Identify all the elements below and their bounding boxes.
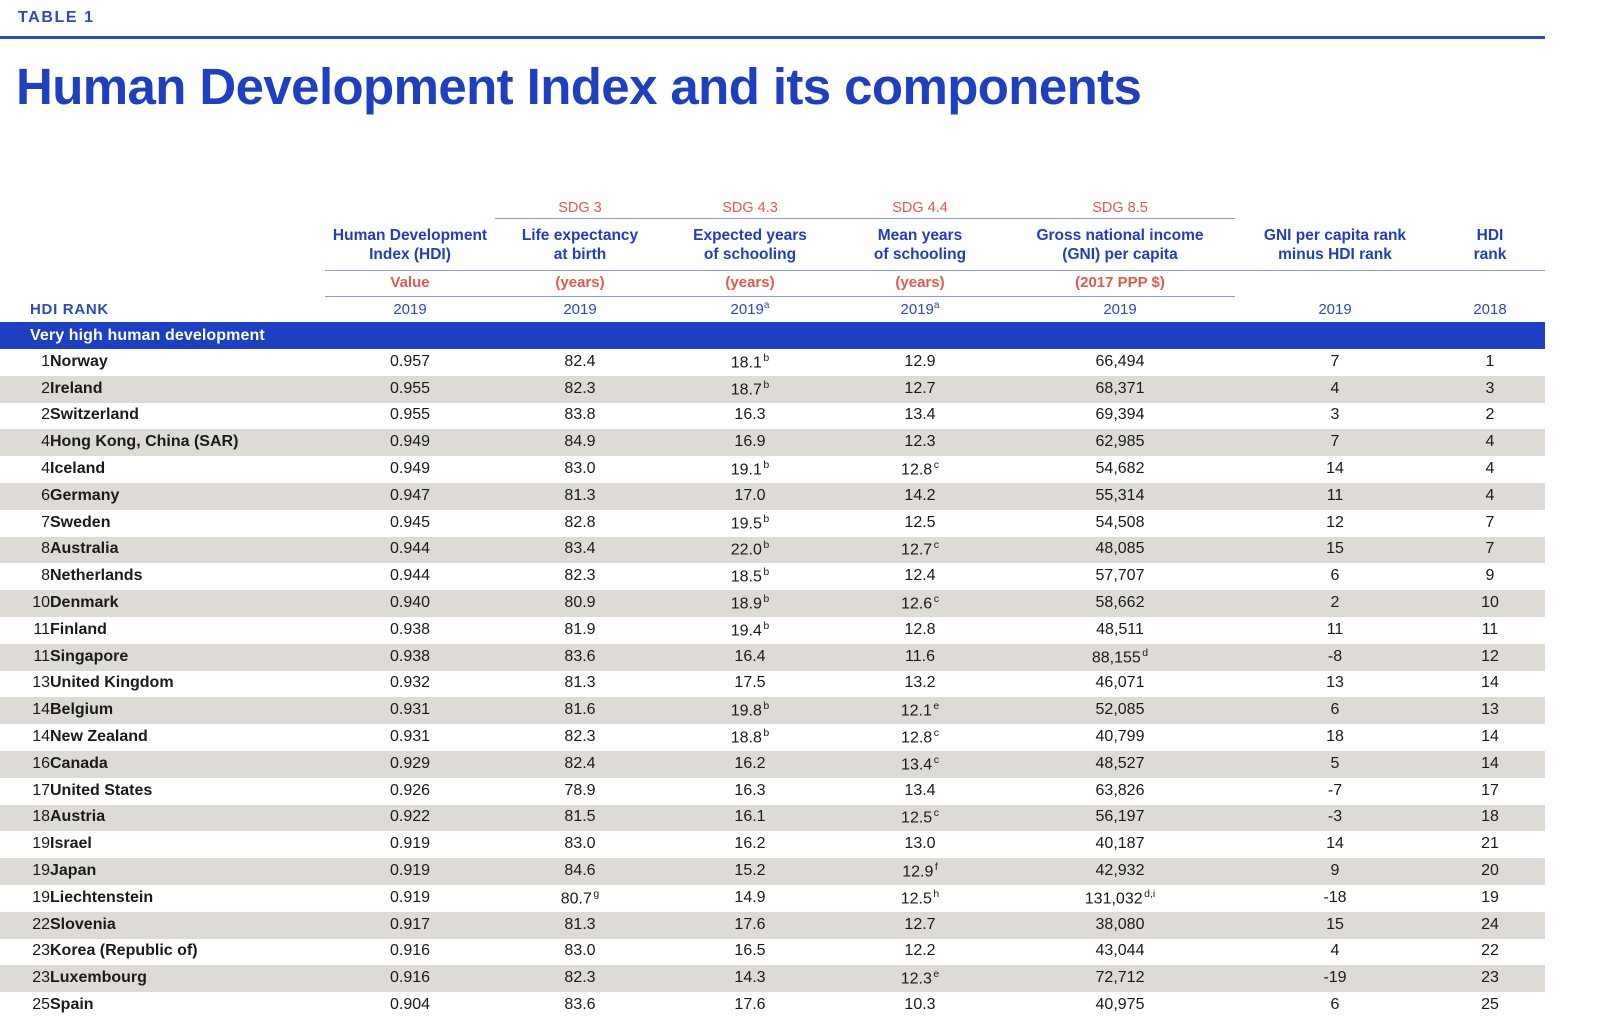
cell-country-name: Norway (50, 349, 325, 376)
cell-mys: 12.2 (835, 939, 1005, 966)
cell-country-name: Singapore (50, 644, 325, 671)
cell-hdirank-value: 4 (1486, 460, 1495, 477)
cell-hdi: 0.938 (325, 644, 495, 671)
cell-hdi-value: 0.931 (390, 728, 430, 745)
table-row: 2Ireland0.95582.318.7b12.768,37143 (0, 376, 1545, 403)
header-row-units: Value (years) (years) (years) (2017 PPP … (0, 270, 1545, 296)
header-rule (0, 36, 1545, 39)
cell-gni: 72,712 (1005, 965, 1235, 992)
cell-hdirank: 19 (1435, 885, 1545, 912)
header-gni-line2: (GNI) per capita (1062, 246, 1177, 263)
cell-gni: 58,662 (1005, 590, 1235, 617)
cell-hdirank-value: 7 (1486, 514, 1495, 531)
cell-hdirank: 4 (1435, 483, 1545, 510)
cell-hdirank: 10 (1435, 590, 1545, 617)
cell-eys-value: 16.2 (734, 755, 765, 772)
cell-hdi-value: 0.944 (390, 567, 430, 584)
cell-mys-note: c (932, 727, 939, 739)
cell-gni: 48,085 (1005, 537, 1235, 564)
cell-mys-note: e (932, 700, 939, 712)
cell-eys-value: 16.4 (734, 648, 765, 665)
cell-gni-note: d (1141, 647, 1148, 659)
cell-hdi: 0.917 (325, 912, 495, 939)
cell-life: 81.9 (495, 617, 665, 644)
cell-eys: 16.9 (665, 429, 835, 456)
cell-mys-value: 12.5 (901, 890, 932, 907)
cell-hdi: 0.938 (325, 617, 495, 644)
cell-eys-value: 16.3 (734, 406, 765, 423)
cell-hdirank-value: 7 (1486, 540, 1495, 557)
cell-rank: 6 (0, 483, 50, 510)
cell-mys-note: c (932, 593, 939, 605)
cell-gni-value: 54,682 (1096, 460, 1145, 477)
cell-mys: 12.8 (835, 617, 1005, 644)
cell-rank: 23 (0, 965, 50, 992)
cell-mys: 12.3e (835, 965, 1005, 992)
cell-gni: 66,494 (1005, 349, 1235, 376)
cell-hdi: 0.949 (325, 456, 495, 483)
cell-hdi: 0.949 (325, 429, 495, 456)
cell-gnirank: -18 (1235, 885, 1435, 912)
cell-mys-value: 12.3 (901, 970, 932, 987)
cell-life: 83.0 (495, 939, 665, 966)
cell-hdi-value: 0.929 (390, 755, 430, 772)
cell-eys: 19.4b (665, 617, 835, 644)
cell-hdi-value: 0.919 (390, 889, 430, 906)
cell-gnirank-value: 13 (1326, 674, 1344, 691)
cell-country-name: Switzerland (50, 403, 325, 430)
cell-gni-value: 54,508 (1096, 514, 1145, 531)
cell-hdi: 0.945 (325, 510, 495, 537)
cell-country-name: New Zealand (50, 724, 325, 751)
cell-rank: 18 (0, 805, 50, 832)
cell-hdirank: 14 (1435, 724, 1545, 751)
header-gni-line1: Gross national income (1036, 227, 1203, 244)
cell-gni: 68,371 (1005, 376, 1235, 403)
cell-hdi: 0.944 (325, 537, 495, 564)
cell-hdi-value: 0.931 (390, 701, 430, 718)
year-mys-sup: a (934, 300, 940, 311)
cell-country-name: Australia (50, 537, 325, 564)
year-hdi: 2019 (325, 296, 495, 322)
cell-eys-value: 22.0 (731, 542, 762, 559)
cell-rank: 1 (0, 349, 50, 376)
cell-gnirank: -19 (1235, 965, 1435, 992)
cell-eys: 16.4 (665, 644, 835, 671)
cell-gni: 40,799 (1005, 724, 1235, 751)
cell-eys-note: b (762, 513, 769, 525)
cell-gni: 69,394 (1005, 403, 1235, 430)
cell-gnirank-value: 6 (1331, 701, 1340, 718)
cell-hdirank-value: 1 (1486, 353, 1495, 370)
sdg-spacer-rank (0, 196, 50, 218)
year-gni-value: 2019 (1103, 301, 1136, 318)
cell-country-name: Netherlands (50, 563, 325, 590)
cell-rank: 4 (0, 429, 50, 456)
cell-life-value: 82.3 (564, 728, 595, 745)
cell-hdirank-value: 17 (1481, 782, 1499, 799)
cell-country-name: Hong Kong, China (SAR) (50, 429, 325, 456)
cell-mys: 12.9 (835, 349, 1005, 376)
cell-eys: 17.6 (665, 992, 835, 1019)
cell-mys-value: 13.4 (904, 406, 935, 423)
cell-mys: 13.4 (835, 403, 1005, 430)
cell-life-value: 83.0 (564, 835, 595, 852)
sdg-eys: SDG 4.3 (665, 196, 835, 218)
header-row-titles: Human Development Index (HDI) Life expec… (0, 218, 1545, 270)
cell-eys-value: 14.9 (734, 889, 765, 906)
cell-hdirank-value: 3 (1486, 380, 1495, 397)
cell-hdi-value: 0.917 (390, 916, 430, 933)
header-hdi-line2: Index (HDI) (369, 246, 451, 263)
cell-hdirank: 2 (1435, 403, 1545, 430)
cell-life-value: 82.4 (564, 755, 595, 772)
cell-life-value: 82.8 (564, 514, 595, 531)
cell-mys: 13.4c (835, 751, 1005, 778)
cell-hdirank: 3 (1435, 376, 1545, 403)
page-title: Human Development Index and its componen… (16, 57, 1141, 116)
table-row: 23Korea (Republic of)0.91683.016.512.243… (0, 939, 1545, 966)
cell-gnirank: 6 (1235, 563, 1435, 590)
cell-eys: 14.3 (665, 965, 835, 992)
cell-hdi: 0.940 (325, 590, 495, 617)
header-life-line1: Life expectancy (522, 227, 638, 244)
cell-hdi-value: 0.955 (390, 380, 430, 397)
cell-hdirank-value: 21 (1481, 835, 1499, 852)
cell-hdirank-value: 20 (1481, 862, 1499, 879)
header-hdi-rank-line1: HDI (1477, 227, 1504, 244)
cell-life-value: 80.7 (561, 890, 592, 907)
cell-gnirank: 14 (1235, 456, 1435, 483)
cell-country-name: Japan (50, 858, 325, 885)
unit-hdi: Value (325, 270, 495, 296)
header-gni-rank: GNI per capita rank minus HDI rank (1235, 218, 1435, 270)
cell-life-value: 80.9 (564, 594, 595, 611)
cell-eys-note: b (762, 566, 769, 578)
table-row: 18Austria0.92281.516.112.5c56,197-318 (0, 805, 1545, 832)
header-hdi-rank: HDI rank (1435, 218, 1545, 270)
group-row-label: Very high human development (0, 322, 1545, 349)
cell-gnirank-value: 3 (1331, 406, 1340, 423)
cell-hdi: 0.919 (325, 831, 495, 858)
cell-eys-note: b (762, 700, 769, 712)
cell-mys-value: 13.0 (904, 835, 935, 852)
cell-life-value: 78.9 (564, 782, 595, 799)
cell-hdirank: 20 (1435, 858, 1545, 885)
cell-mys-value: 12.7 (904, 916, 935, 933)
cell-gnirank-value: 6 (1331, 567, 1340, 584)
cell-gni: 131,032d,i (1005, 885, 1235, 912)
table-row: 7Sweden0.94582.819.5b12.554,508127 (0, 510, 1545, 537)
cell-mys-value: 12.6 (901, 595, 932, 612)
cell-gnirank-value: 15 (1326, 916, 1344, 933)
cell-eys: 16.2 (665, 831, 835, 858)
cell-hdirank: 14 (1435, 751, 1545, 778)
cell-life: 83.6 (495, 992, 665, 1019)
cell-hdirank-value: 11 (1482, 621, 1499, 638)
cell-life: 82.3 (495, 965, 665, 992)
cell-eys-value: 14.3 (734, 969, 765, 986)
cell-life-value: 83.8 (564, 406, 595, 423)
cell-eys: 16.2 (665, 751, 835, 778)
cell-hdirank: 9 (1435, 563, 1545, 590)
cell-country-name: United States (50, 778, 325, 805)
cell-gni: 46,071 (1005, 671, 1235, 698)
cell-hdirank-value: 12 (1481, 648, 1499, 665)
cell-rank: 11 (0, 644, 50, 671)
cell-hdi-value: 0.944 (390, 540, 430, 557)
cell-gni-value: 48,511 (1096, 621, 1144, 638)
cell-eys-value: 17.6 (734, 996, 765, 1013)
unit-life: (years) (495, 270, 665, 296)
cell-rank: 7 (0, 510, 50, 537)
header-gni-rank-line2: minus HDI rank (1278, 246, 1392, 263)
table-row: 19Japan0.91984.615.212.9f42,932920 (0, 858, 1545, 885)
cell-gnirank: 6 (1235, 992, 1435, 1019)
header-hdi-rank-label: HDI RANK (0, 296, 325, 322)
cell-hdi-value: 0.938 (390, 648, 430, 665)
header-hdi: Human Development Index (HDI) (325, 218, 495, 270)
unit-spacer-rank (0, 270, 50, 296)
cell-gni-value: 38,080 (1096, 916, 1145, 933)
cell-eys: 18.9b (665, 590, 835, 617)
cell-eys-note: b (762, 539, 769, 551)
cell-mys-note: c (932, 807, 939, 819)
cell-life: 81.3 (495, 671, 665, 698)
cell-gni: 40,975 (1005, 992, 1235, 1019)
cell-rank: 2 (0, 403, 50, 430)
cell-eys-value: 15.2 (734, 862, 765, 879)
cell-eys: 16.1 (665, 805, 835, 832)
cell-hdirank: 22 (1435, 939, 1545, 966)
cell-country-name: Slovenia (50, 912, 325, 939)
cell-gni: 54,508 (1005, 510, 1235, 537)
table-row: 14Belgium0.93181.619.8b12.1e52,085613 (0, 697, 1545, 724)
cell-life: 81.3 (495, 483, 665, 510)
cell-life: 78.9 (495, 778, 665, 805)
cell-gnirank: -3 (1235, 805, 1435, 832)
cell-life-value: 81.3 (564, 916, 595, 933)
cell-life-value: 81.9 (564, 621, 595, 638)
cell-mys: 12.7 (835, 912, 1005, 939)
cell-gni-value: 42,932 (1096, 862, 1145, 879)
header-hdi-rank-line2: rank (1474, 246, 1507, 263)
cell-life: 83.6 (495, 644, 665, 671)
header-eys-line1: Expected years (693, 227, 807, 244)
cell-hdirank: 7 (1435, 510, 1545, 537)
cell-rank: 14 (0, 724, 50, 751)
header-eys: Expected years of schooling (665, 218, 835, 270)
cell-gni-value: 62,985 (1096, 433, 1145, 450)
cell-hdirank: 17 (1435, 778, 1545, 805)
cell-gnirank: 14 (1235, 831, 1435, 858)
cell-gnirank: 5 (1235, 751, 1435, 778)
cell-mys-value: 14.2 (904, 487, 935, 504)
cell-gnirank-value: 14 (1326, 460, 1344, 477)
year-eys-sup: a (764, 300, 770, 311)
cell-life-value: 81.3 (564, 674, 595, 691)
cell-hdirank-value: 18 (1481, 808, 1499, 825)
cell-life-value: 83.6 (564, 996, 595, 1013)
cell-eys-value: 16.5 (734, 942, 765, 959)
cell-hdi-value: 0.919 (390, 835, 430, 852)
cell-hdirank: 12 (1435, 644, 1545, 671)
cell-life: 82.4 (495, 349, 665, 376)
cell-eys-value: 19.5 (731, 515, 762, 532)
cell-gnirank-value: 4 (1331, 942, 1340, 959)
header-row-years: HDI RANK 2019 2019 2019a 2019a 2019 2019 (0, 296, 1545, 322)
cell-gni: 48,527 (1005, 751, 1235, 778)
cell-mys: 12.7 (835, 376, 1005, 403)
cell-hdirank: 7 (1435, 537, 1545, 564)
cell-hdi: 0.919 (325, 858, 495, 885)
sdg-gni: SDG 8.5 (1005, 196, 1235, 218)
cell-life-value: 81.3 (564, 487, 595, 504)
cell-eys: 17.0 (665, 483, 835, 510)
cell-mys: 10.3 (835, 992, 1005, 1019)
cell-gnirank-value: -7 (1328, 782, 1342, 799)
unit-gni: (2017 PPP $) (1005, 270, 1235, 296)
header-hdi-line1: Human Development (333, 227, 487, 244)
year-gni-rank: 2019 (1235, 296, 1435, 322)
cell-mys-note: f (933, 861, 937, 873)
cell-gnirank: 11 (1235, 483, 1435, 510)
cell-gnirank: 9 (1235, 858, 1435, 885)
cell-mys-value: 12.8 (901, 729, 932, 746)
cell-mys: 12.4 (835, 563, 1005, 590)
cell-hdi-value: 0.916 (390, 969, 430, 986)
cell-hdirank-value: 13 (1481, 701, 1499, 718)
cell-hdirank-value: 14 (1481, 674, 1499, 691)
cell-mys-value: 13.4 (904, 782, 935, 799)
sdg-spacer-name (50, 196, 325, 218)
cell-gni-value: 72,712 (1096, 969, 1145, 986)
sdg-hdi (325, 196, 495, 218)
cell-gnirank-value: 12 (1326, 514, 1344, 531)
cell-life: 81.3 (495, 912, 665, 939)
cell-life-value: 84.9 (564, 433, 595, 450)
cell-rank: 19 (0, 858, 50, 885)
cell-hdirank-value: 22 (1481, 942, 1499, 959)
table-row: 23Luxembourg0.91682.314.312.3e72,712-192… (0, 965, 1545, 992)
cell-gnirank: -8 (1235, 644, 1435, 671)
cell-country-name: Finland (50, 617, 325, 644)
header-life: Life expectancy at birth (495, 218, 665, 270)
cell-gnirank-value: -18 (1323, 889, 1346, 906)
cell-eys: 15.2 (665, 858, 835, 885)
cell-mys-value: 12.3 (904, 433, 935, 450)
table-row: 22Slovenia0.91781.317.612.738,0801524 (0, 912, 1545, 939)
header-eys-line2: of schooling (704, 246, 796, 263)
cell-mys: 13.4 (835, 778, 1005, 805)
year-mys-value: 2019 (901, 301, 934, 318)
cell-hdi: 0.916 (325, 965, 495, 992)
cell-gni: 63,826 (1005, 778, 1235, 805)
cell-gni-value: 58,662 (1096, 594, 1145, 611)
group-row-very-high: Very high human development (0, 322, 1545, 349)
cell-hdirank: 14 (1435, 671, 1545, 698)
cell-eys: 17.6 (665, 912, 835, 939)
table-row: 8Australia0.94483.422.0b12.7c48,085157 (0, 537, 1545, 564)
cell-eys: 18.1b (665, 349, 835, 376)
cell-hdi: 0.932 (325, 671, 495, 698)
cell-gni: 62,985 (1005, 429, 1235, 456)
cell-gni-value: 40,187 (1096, 835, 1145, 852)
cell-hdi-value: 0.926 (390, 782, 430, 799)
cell-hdi-value: 0.938 (390, 621, 430, 638)
unit-mys: (years) (835, 270, 1005, 296)
cell-gnirank-value: 4 (1331, 380, 1340, 397)
cell-rank: 22 (0, 912, 50, 939)
cell-mys-value: 12.8 (901, 461, 932, 478)
header-row-sdg: SDG 3 SDG 4.3 SDG 4.4 SDG 8.5 (0, 196, 1545, 218)
table-row: 10Denmark0.94080.918.9b12.6c58,662210 (0, 590, 1545, 617)
table-row: 16Canada0.92982.416.213.4c48,527514 (0, 751, 1545, 778)
cell-hdirank-value: 2 (1486, 406, 1495, 423)
cell-life-value: 83.0 (564, 460, 595, 477)
cell-life-value: 81.5 (564, 808, 595, 825)
cell-country-name: Liechtenstein (50, 885, 325, 912)
cell-gnirank-value: 11 (1327, 487, 1344, 504)
cell-rank: 19 (0, 831, 50, 858)
cell-gni-value: 52,085 (1096, 701, 1145, 718)
cell-hdi: 0.926 (325, 778, 495, 805)
cell-life: 82.3 (495, 376, 665, 403)
cell-gni-value: 131,032 (1085, 890, 1143, 907)
cell-hdirank-value: 23 (1481, 969, 1499, 986)
cell-hdirank: 25 (1435, 992, 1545, 1019)
cell-country-name: Austria (50, 805, 325, 832)
cell-gnirank-value: 9 (1331, 862, 1340, 879)
cell-gnirank-value: 7 (1331, 433, 1340, 450)
cell-gni-value: 66,494 (1096, 353, 1145, 370)
cell-rank: 16 (0, 751, 50, 778)
cell-mys-value: 12.9 (904, 353, 935, 370)
cell-mys-note: c (932, 754, 939, 766)
cell-mys: 12.8c (835, 456, 1005, 483)
table-row: 1Norway0.95782.418.1b12.966,49471 (0, 349, 1545, 376)
cell-hdirank-value: 25 (1481, 996, 1499, 1013)
cell-eys: 18.8b (665, 724, 835, 751)
cell-mys: 12.6c (835, 590, 1005, 617)
cell-gni-value: 55,314 (1096, 487, 1145, 504)
header-spacer-name (50, 218, 325, 270)
cell-life: 81.5 (495, 805, 665, 832)
header-gni: Gross national income (GNI) per capita (1005, 218, 1235, 270)
header-spacer-rank (0, 218, 50, 270)
cell-mys: 12.5 (835, 510, 1005, 537)
cell-hdi: 0.955 (325, 376, 495, 403)
cell-gnirank-value: 5 (1331, 755, 1340, 772)
cell-life-value: 83.6 (564, 648, 595, 665)
cell-mys: 12.7c (835, 537, 1005, 564)
cell-eys: 18.5b (665, 563, 835, 590)
cell-life: 81.6 (495, 697, 665, 724)
cell-gni: 88,155d (1005, 644, 1235, 671)
cell-mys-value: 12.7 (901, 542, 932, 559)
header-mys-line1: Mean years (878, 227, 962, 244)
cell-gnirank: 15 (1235, 912, 1435, 939)
cell-mys: 14.2 (835, 483, 1005, 510)
cell-hdi-value: 0.945 (390, 514, 430, 531)
cell-hdi: 0.955 (325, 403, 495, 430)
cell-mys-note: e (932, 968, 939, 980)
cell-country-name: Iceland (50, 456, 325, 483)
cell-country-name: Spain (50, 992, 325, 1019)
cell-rank: 4 (0, 456, 50, 483)
cell-life: 83.0 (495, 456, 665, 483)
cell-rank: 2 (0, 376, 50, 403)
